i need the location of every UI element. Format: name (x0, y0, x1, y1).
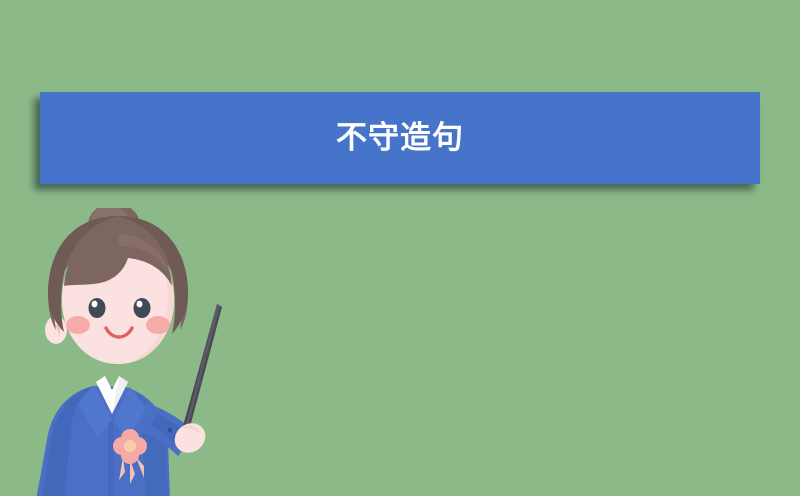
page-title: 不守造句 (336, 123, 464, 154)
title-banner: 不守造句 (40, 92, 760, 184)
slide-canvas: 不守造句 (0, 0, 800, 496)
pointer-stick (183, 304, 222, 427)
teacher-illustration (18, 208, 258, 496)
